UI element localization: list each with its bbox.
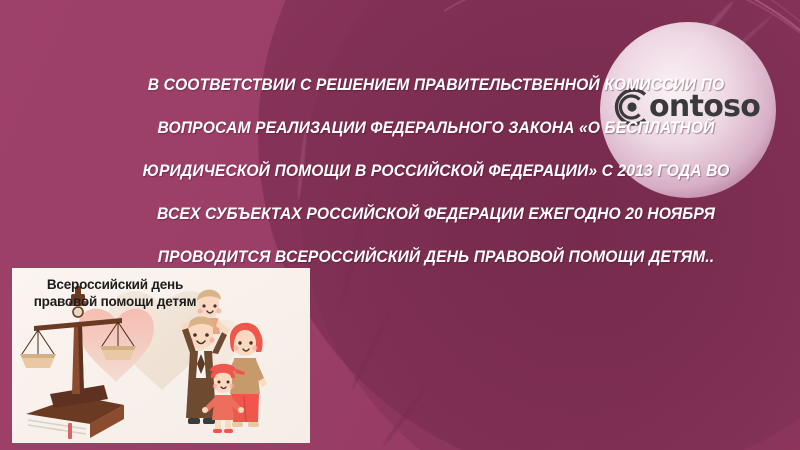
body-line-4: ВСЕХ СУБЪЕКТАХ РОССИЙСКОЙ ФЕДЕРАЦИИ ЕЖЕГ… [113,193,759,236]
poster-title-line-2: правовой помощи детям [20,293,210,310]
body-line-2: ВОПРОСАМ РЕАЛИЗАЦИИ ФЕДЕРАЛЬНОГО ЗАКОНА … [113,107,759,150]
slide-body-text: В СООТВЕТСТВИИ С РЕШЕНИЕМ ПРАВИТЕЛЬСТВЕН… [113,64,759,279]
body-line-1: В СООТВЕТСТВИИ С РЕШЕНИЕМ ПРАВИТЕЛЬСТВЕН… [113,64,759,107]
poster-title: Всероссийский день правовой помощи детям [20,276,210,310]
presentation-slide: ontoso В СООТВЕТСТВИИ С РЕШЕНИЕМ ПРАВИТЕ… [0,0,800,450]
poster-title-line-1: Всероссийский день [20,276,210,293]
body-line-3: ЮРИДИЧЕСКОЙ ПОМОЩИ В РОССИЙСКОЙ ФЕДЕРАЦИ… [113,150,759,193]
poster-image: Всероссийский день правовой помощи детям [12,268,310,443]
